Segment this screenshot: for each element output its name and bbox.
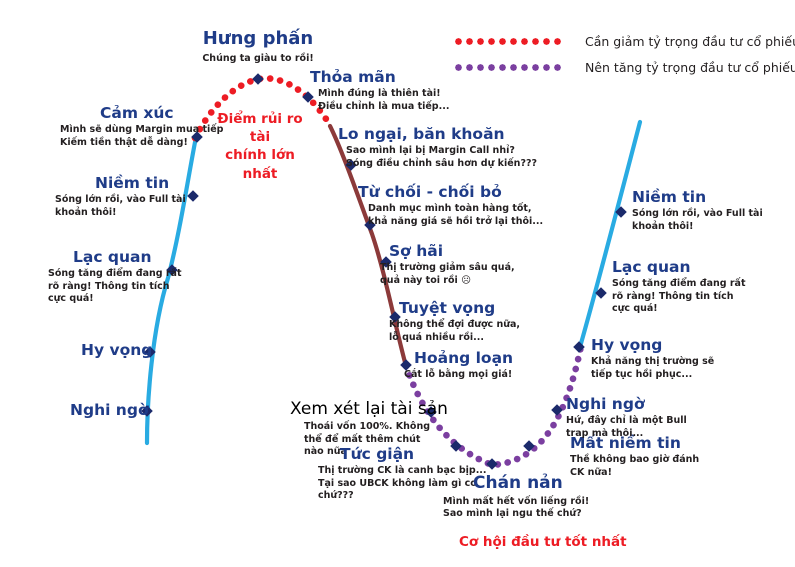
stage-niem-tin-right-sub2: khoản thôi!: [632, 221, 763, 234]
stage-lac-quan-right-sub2: rõ ràng! Thông tin tích: [612, 291, 746, 304]
stage-hoang-loan-sub1: Cắt lỗ bằng mọi giá!: [404, 369, 513, 382]
stage-niem-tin-left-title: Niềm tin: [95, 175, 186, 191]
stage-thoa-man-sub2: Điều chỉnh là mua tiếp...: [318, 101, 449, 114]
stage-lac-quan-right-sub3: cực quá!: [612, 303, 746, 316]
stage-lac-quan-right: Lạc quan Sóng tăng điểm đang rất rõ ràng…: [612, 259, 746, 316]
stage-lo-ngai: Lo ngại, băn khoăn Sao mình lại bị Margi…: [338, 126, 537, 170]
stage-thoa-man-title: Thỏa mãn: [310, 69, 449, 85]
stage-lo-ngai-title: Lo ngại, băn khoăn: [338, 126, 537, 142]
annotation-peak-risk-line1: Điểm rủi ro tài: [210, 110, 310, 146]
stage-lac-quan-left-sub2: rõ ràng! Thông tin tích: [48, 281, 182, 294]
stage-niem-tin-right: Niềm tin Sóng lớn rồi, vào Full tài khoả…: [632, 189, 763, 233]
stage-hy-vong-right: Hy vọng Khả năng thị trường sẽ tiếp tục …: [591, 337, 714, 381]
stage-lac-quan-right-title: Lạc quan: [612, 259, 746, 275]
annotation-best-opportunity: Cơ hội đầu tư tốt nhất: [459, 533, 627, 551]
stage-tuc-gian-title: Tức giận: [340, 446, 487, 462]
stage-hung-phan-sub: Chúng ta giàu to rồi!: [183, 53, 333, 66]
stage-thoa-man-sub1: Mình đúng là thiên tài!: [318, 88, 449, 101]
stage-hoang-loan: Hoảng loạn Cắt lỗ bằng mọi giá!: [404, 350, 513, 382]
stage-hoang-loan-title: Hoảng loạn: [414, 350, 513, 366]
stage-hy-vong-right-sub1: Khả năng thị trường sẽ: [591, 356, 714, 369]
stage-lac-quan-left: Lạc quan Sóng tăng điểm đang rất rõ ràng…: [48, 249, 182, 306]
stage-lo-ngai-sub1: Sao mình lại bị Margin Call nhỉ?: [346, 145, 537, 158]
stage-lac-quan-left-sub1: Sóng tăng điểm đang rất: [48, 268, 182, 281]
stage-lac-quan-left-title: Lạc quan: [73, 249, 182, 265]
market-psychology-cycle-chart: Cần giảm tỷ trọng đầu tư cổ phiếu Nên tă…: [0, 0, 795, 567]
stage-so-hai-title: Sợ hãi: [389, 243, 515, 259]
stage-tuyet-vong: Tuyệt vọng Không thể đợi được nữa, lỗ qu…: [385, 300, 520, 344]
legend-label-increase: Nên tăng tỷ trọng đầu tư cổ phiếu: [585, 60, 795, 75]
stage-chan-nan-sub1: Mình mất hết vốn liếng rồi!: [443, 496, 589, 509]
stage-xem-xet-sub1: Thoái vốn 100%. Không: [304, 421, 448, 434]
stage-hung-phan-title: Hưng phấn: [183, 30, 333, 49]
legend-item-reduce: Cần giảm tỷ trọng đầu tư cổ phiếu: [455, 34, 795, 49]
curve-marker: [486, 458, 498, 470]
stage-lac-quan-right-sub1: Sóng tăng điểm đang rất: [612, 278, 746, 291]
stage-niem-tin-left-sub2: khoản thôi!: [55, 207, 186, 220]
stage-chan-nan-sub2: Sao mình lại ngu thế chứ?: [443, 508, 589, 521]
stage-nghi-ngo-left-title: Nghi ngờ: [70, 402, 149, 418]
legend-label-reduce: Cần giảm tỷ trọng đầu tư cổ phiếu: [585, 34, 795, 49]
annotation-peak-risk: Điểm rủi ro tài chính lớn nhất: [210, 110, 310, 183]
stage-nghi-ngo-right-sub2: trap mà thôi...: [566, 428, 687, 441]
curve-marker: [252, 73, 264, 85]
stage-tuyet-vong-title: Tuyệt vọng: [399, 300, 520, 316]
stage-hung-phan: Hưng phấn Chúng ta giàu to rồi!: [183, 30, 333, 65]
stage-cam-xuc-title: Cảm xúc: [100, 105, 223, 121]
stage-tuyet-vong-sub2: lỗ quá nhiều rồi...: [389, 332, 520, 345]
stage-cam-xuc-sub2: Kiếm tiền thật dễ dàng!: [60, 137, 223, 150]
stage-chan-nan: Chán nản Mình mất hết vốn liếng rồi! Sao…: [443, 475, 589, 521]
legend-item-increase: Nên tăng tỷ trọng đầu tư cổ phiếu: [455, 60, 795, 75]
stage-cam-xuc-sub1: Mình sẽ dùng Margin mua tiếp: [60, 124, 223, 137]
stage-so-hai-sub2: quả này toi rồi ☹: [380, 275, 515, 288]
stage-niem-tin-left-sub1: Sóng lớn rồi, vào Full tài: [55, 194, 186, 207]
stage-tuyet-vong-sub1: Không thể đợi được nữa,: [389, 319, 520, 332]
stage-hy-vong-right-sub2: tiếp tục hồi phục...: [591, 369, 714, 382]
stage-hy-vong-right-title: Hy vọng: [591, 337, 714, 353]
stage-mat-niem-tin: Mất niềm tin Thề không bao giờ đánh CK n…: [570, 435, 699, 479]
stage-cam-xuc: Cảm xúc Mình sẽ dùng Margin mua tiếp Kiế…: [60, 105, 223, 149]
stage-mat-niem-tin-sub1: Thề không bao giờ đánh: [570, 454, 699, 467]
stage-nghi-ngo-left: Nghi ngờ: [70, 402, 149, 418]
annotation-peak-risk-line2: chính lớn nhất: [210, 146, 310, 182]
stage-nghi-ngo-right: Nghi ngờ Hứ, đây chỉ là một Bull trap mà…: [566, 396, 687, 440]
curve-marker: [187, 190, 199, 202]
legend-swatch-red-dotted: [455, 38, 563, 45]
stage-xem-xet-title: Xem xét lại tài sản: [290, 399, 448, 419]
stage-tu-choi: Từ chối - chối bỏ Danh mục mình toàn hàn…: [358, 184, 543, 228]
stage-niem-tin-right-title: Niềm tin: [632, 189, 763, 205]
stage-hy-vong-left-title: Hy vọng: [81, 342, 152, 358]
stage-so-hai: Sợ hãi Thị trường giảm sâu quá, quả này …: [375, 243, 515, 287]
stage-tu-choi-title: Từ chối - chối bỏ: [358, 184, 543, 200]
stage-lac-quan-left-sub3: cực quá!: [48, 293, 182, 306]
stage-niem-tin-right-sub1: Sóng lớn rồi, vào Full tài: [632, 208, 763, 221]
stage-mat-niem-tin-sub2: CK nữa!: [570, 467, 699, 480]
stage-tu-choi-sub1: Danh mục mình toàn hàng tốt,: [368, 203, 543, 216]
stage-niem-tin-left: Niềm tin Sóng lớn rồi, vào Full tài khoả…: [55, 175, 186, 219]
stage-lo-ngai-sub2: Sóng điều chỉnh sâu hơn dự kiến???: [346, 158, 537, 171]
stage-thoa-man: Thỏa mãn Mình đúng là thiên tài! Điều ch…: [310, 69, 449, 113]
stage-tu-choi-sub2: khả năng giá sẽ hồi trở lại thôi...: [368, 216, 543, 229]
stage-nghi-ngo-right-sub1: Hứ, đây chỉ là một Bull: [566, 415, 687, 428]
legend-swatch-purple-dotted: [455, 64, 563, 71]
stage-hy-vong-left: Hy vọng: [81, 342, 152, 358]
stage-so-hai-sub1: Thị trường giảm sâu quá,: [380, 262, 515, 275]
stage-nghi-ngo-right-title: Nghi ngờ: [566, 396, 687, 412]
